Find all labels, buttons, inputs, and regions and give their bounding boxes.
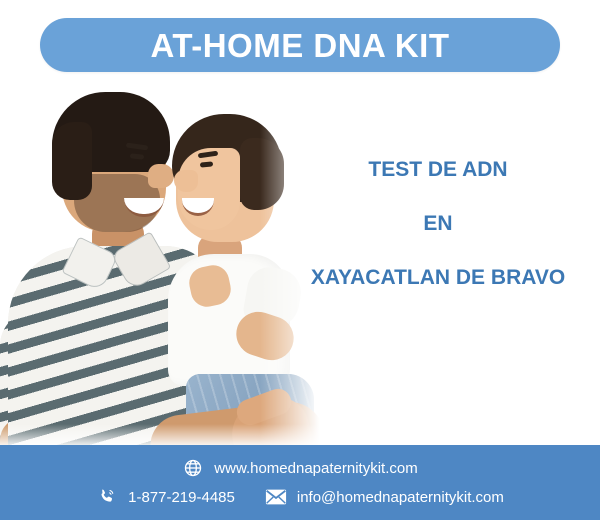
- headline-line-3: XAYACATLAN DE BRAVO: [288, 266, 588, 290]
- child-nose: [174, 170, 198, 192]
- phone-text: 1-877-219-4485: [128, 489, 235, 506]
- globe-icon: [182, 457, 204, 479]
- website-text: www.homednapaternitykit.com: [214, 460, 417, 477]
- footer-row-contact: 1-877-219-4485 info@homednapaternitykit.…: [96, 486, 504, 508]
- website-item[interactable]: www.homednapaternitykit.com: [182, 457, 417, 479]
- footer-row-website: www.homednapaternitykit.com: [182, 457, 417, 479]
- footer-bar: www.homednapaternitykit.com 1-877-219-44…: [0, 445, 600, 520]
- man-nose: [148, 164, 174, 188]
- phone-icon: [96, 486, 118, 508]
- page-title: AT-HOME DNA KIT: [151, 29, 450, 62]
- family-photo: [0, 78, 330, 450]
- man-hair-side: [52, 122, 92, 200]
- envelope-icon: [265, 486, 287, 508]
- header-banner: AT-HOME DNA KIT: [40, 18, 560, 72]
- headline-block: TEST DE ADN EN XAYACATLAN DE BRAVO: [288, 158, 588, 290]
- phone-item[interactable]: 1-877-219-4485: [96, 486, 235, 508]
- headline-line-1: TEST DE ADN: [288, 158, 588, 182]
- email-text: info@homednapaternitykit.com: [297, 489, 504, 506]
- headline-line-2: EN: [288, 212, 588, 236]
- poster-canvas: AT-HOME DNA KIT: [0, 0, 600, 520]
- email-item[interactable]: info@homednapaternitykit.com: [265, 486, 504, 508]
